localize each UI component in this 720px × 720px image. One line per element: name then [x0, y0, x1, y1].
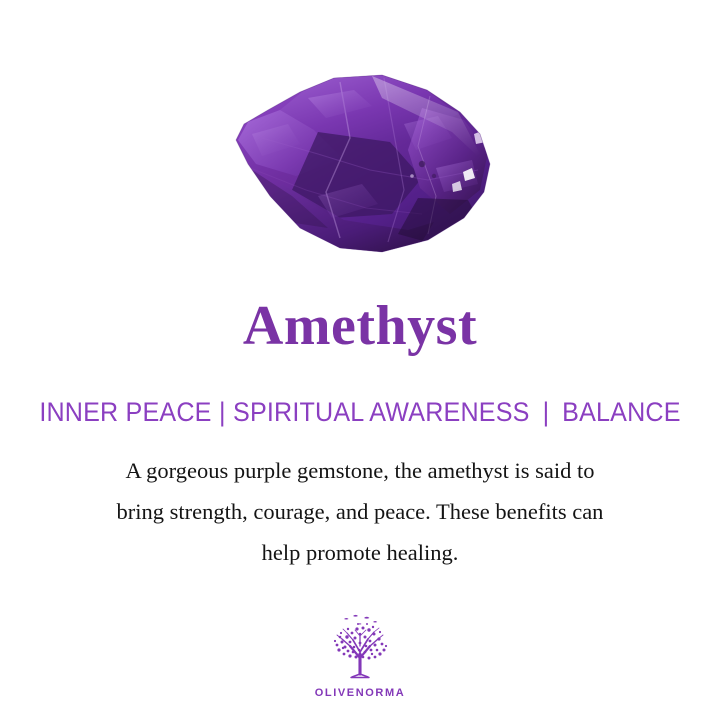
description-text: A gorgeous purple gemstone, the amethyst… — [50, 450, 670, 573]
brand-logo: OLIVENORMA — [0, 612, 720, 699]
brand-name: OLIVENORMA — [0, 687, 720, 699]
hero-image-area — [0, 60, 720, 275]
amethyst-crystal-illustration — [222, 72, 502, 262]
keyword-inner-peace: INNER PEACE — [39, 397, 211, 427]
description-line: A gorgeous purple gemstone, the amethyst… — [50, 450, 670, 491]
description-line: help promote healing. — [50, 532, 670, 573]
keyword-separator: | — [530, 398, 563, 428]
keyword-balance: BALANCE — [562, 397, 681, 427]
keyword-spiritual-awareness: SPIRITUAL AWARENESS — [233, 397, 530, 427]
keyword-separator: | — [212, 398, 233, 428]
description-line: bring strength, courage, and peace. Thes… — [50, 491, 670, 532]
tree-logo-icon — [322, 612, 398, 680]
page-title: Amethyst — [0, 298, 720, 354]
amethyst-crystal-image — [222, 72, 502, 262]
keyword-list: INNER PEACE|SPIRITUAL AWARENESS|BALANCE — [25, 398, 695, 428]
amethyst-info-card: Amethyst INNER PEACE|SPIRITUAL AWARENESS… — [0, 0, 720, 720]
